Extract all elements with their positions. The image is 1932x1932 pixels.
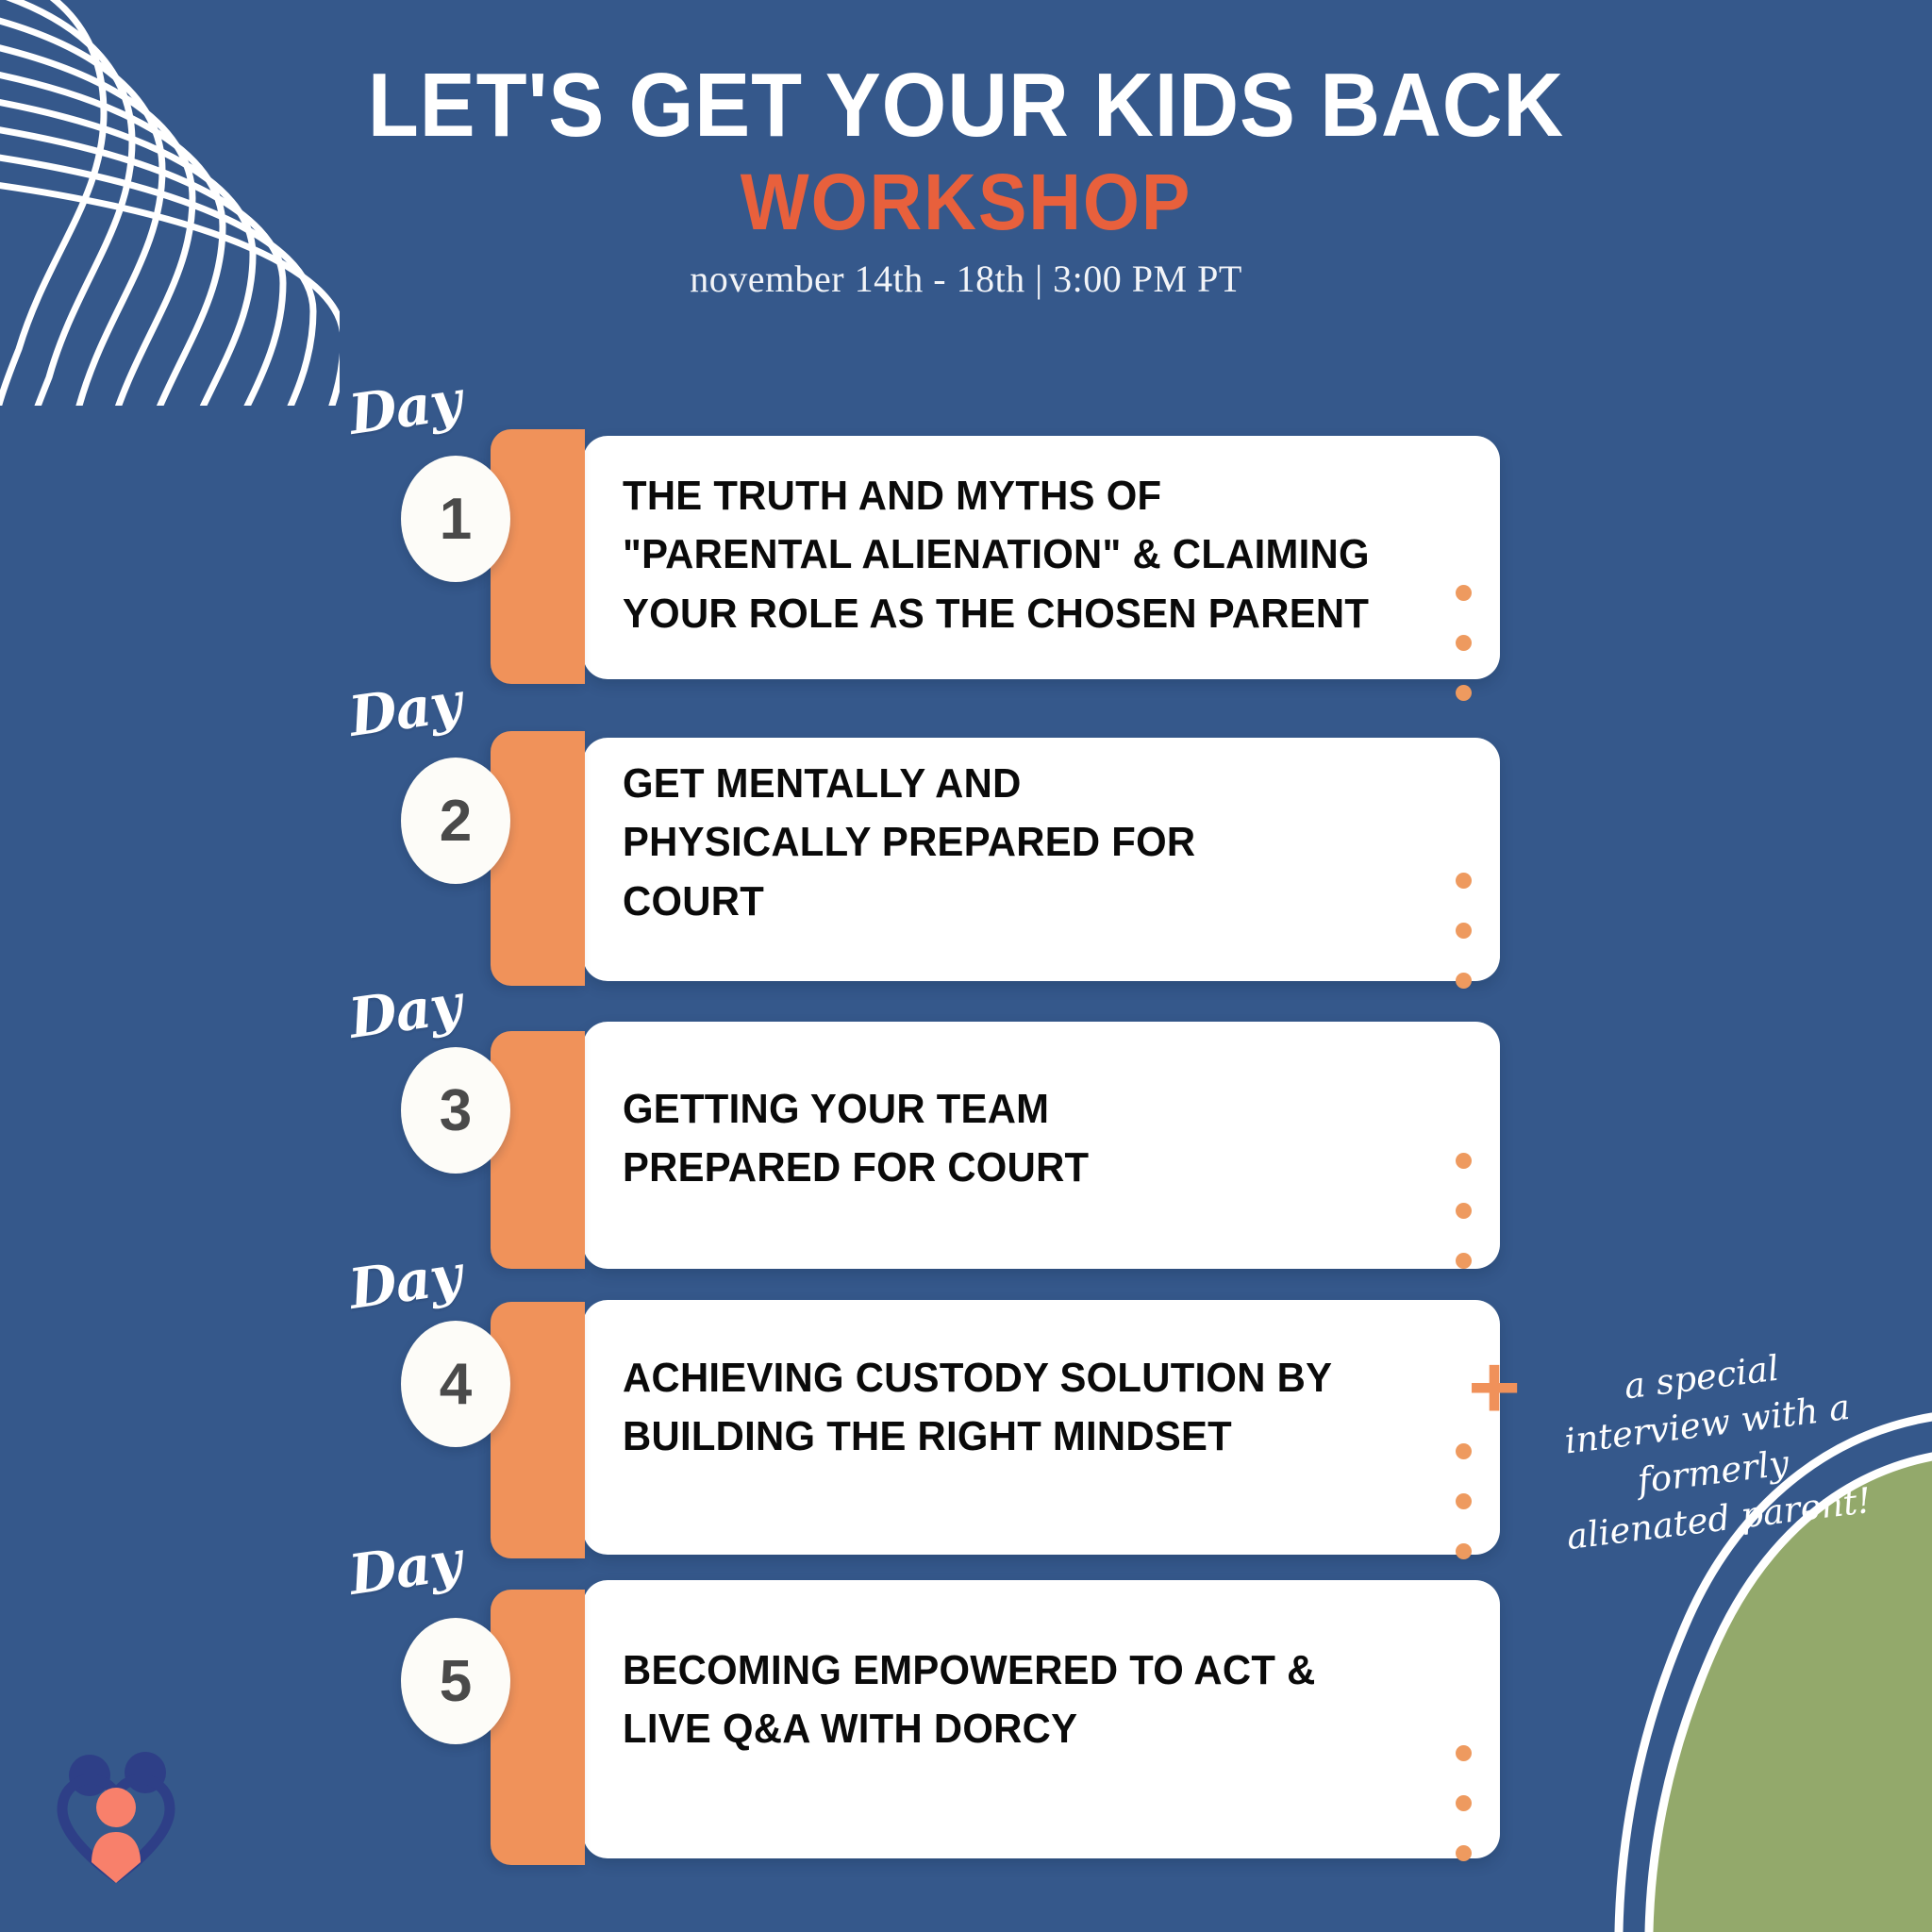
day-number-4: 4 bbox=[401, 1321, 510, 1447]
day-card-2-text: GET MENTALLY AND PHYSICALLY PREPARED FOR… bbox=[623, 755, 1429, 931]
day-label-5: Day bbox=[345, 1528, 465, 1607]
day-number-3: 3 bbox=[401, 1047, 510, 1174]
day-number-5: 5 bbox=[401, 1618, 510, 1744]
page-title: LET'S GET YOUR KIDS BACK bbox=[77, 60, 1855, 151]
brand-logo-icon bbox=[45, 1751, 187, 1892]
day-card-5-text: BECOMING EMPOWERED TO ACT & LIVE Q&A WIT… bbox=[623, 1641, 1429, 1759]
day-number-1: 1 bbox=[401, 456, 510, 582]
day-card-3-text: GETTING YOUR TEAM PREPARED FOR COURT bbox=[623, 1080, 1429, 1198]
dots-decoration-2 bbox=[1456, 873, 1472, 1023]
day-number-1-value: 1 bbox=[440, 486, 472, 553]
dots-decoration-3 bbox=[1456, 1153, 1472, 1303]
special-interview-note: a special interview with a formerly alie… bbox=[1544, 1336, 1876, 1562]
day-number-4-value: 4 bbox=[440, 1351, 472, 1418]
dots-decoration-1 bbox=[1456, 585, 1472, 735]
plus-icon: + bbox=[1468, 1342, 1521, 1433]
day-tab-3 bbox=[491, 1031, 585, 1269]
day-tab-4 bbox=[491, 1302, 585, 1558]
dots-decoration-5 bbox=[1456, 1745, 1472, 1895]
day-number-2-value: 2 bbox=[440, 788, 472, 855]
day-card-4-text: ACHIEVING CUSTODY SOLUTION BY BUILDING T… bbox=[623, 1349, 1429, 1467]
day-card-1-text: THE TRUTH AND MYTHS OF "PARENTAL ALIENAT… bbox=[623, 467, 1429, 643]
dots-decoration-4 bbox=[1456, 1443, 1472, 1593]
day-label-1: Day bbox=[345, 368, 465, 447]
day-number-5-value: 5 bbox=[440, 1648, 472, 1715]
poster-canvas: LET'S GET YOUR KIDS BACK WORKSHOP novemb… bbox=[0, 0, 1932, 1932]
day-tab-1 bbox=[491, 429, 585, 684]
day-tab-2 bbox=[491, 731, 585, 986]
day-label-3: Day bbox=[345, 972, 465, 1051]
day-label-2: Day bbox=[345, 670, 465, 749]
day-number-3-value: 3 bbox=[440, 1077, 472, 1144]
page-subtitle: WORKSHOP bbox=[77, 160, 1855, 243]
poster-header: LET'S GET YOUR KIDS BACK WORKSHOP novemb… bbox=[0, 60, 1932, 301]
event-date-time: november 14th - 18th | 3:00 PM PT bbox=[0, 257, 1932, 301]
day-tab-5 bbox=[491, 1590, 585, 1865]
day-label-4: Day bbox=[345, 1242, 465, 1322]
day-number-2: 2 bbox=[401, 758, 510, 884]
